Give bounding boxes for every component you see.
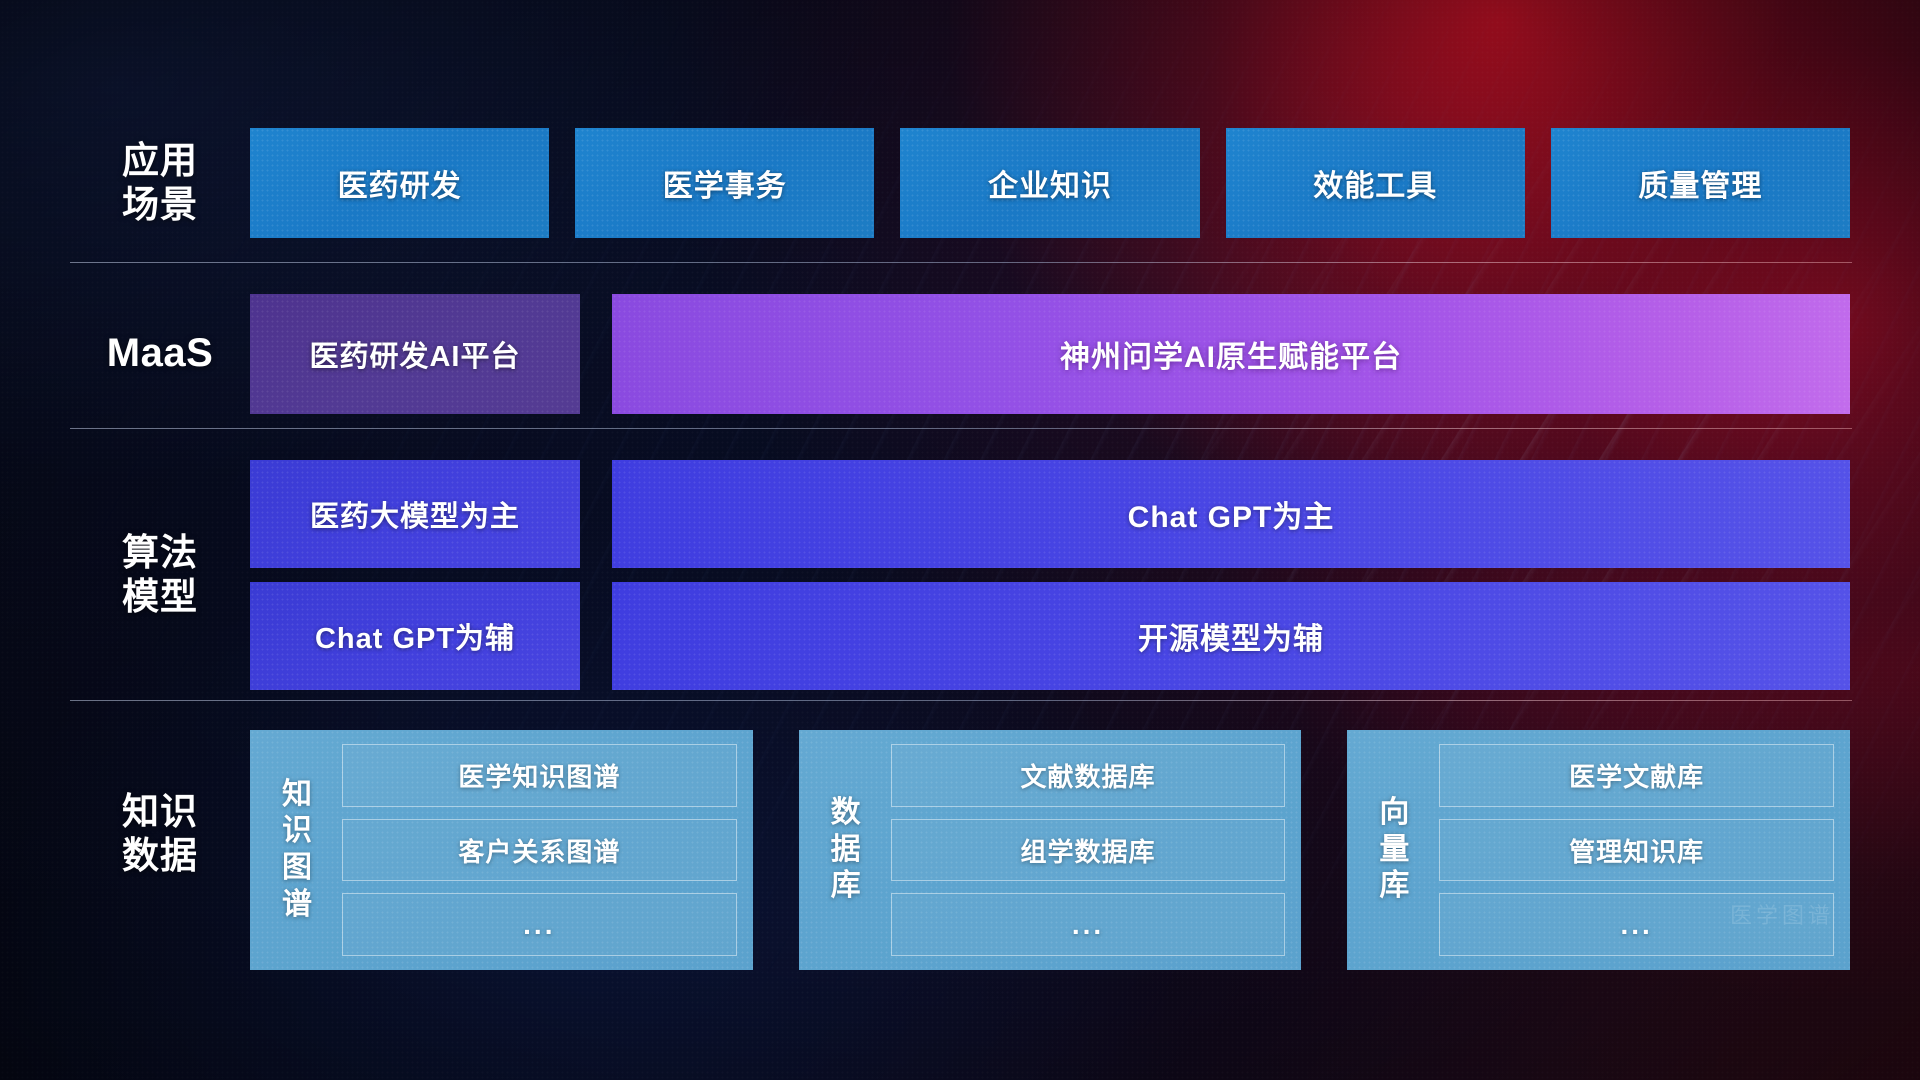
slide-canvas: 应用 场景 医药研发 医学事务 企业知识 效能工具 质量管理 MaaS 医药研发… (0, 0, 1920, 1080)
algorithm-primary-line: 医药大模型为主 Chat GPT为主 (250, 460, 1850, 568)
knowledge-item-more-vector-store[interactable]: ... (1439, 893, 1834, 956)
algo-card-pharma-llm-primary[interactable]: 医药大模型为主 (250, 460, 580, 568)
architecture-diagram: 应用 场景 医药研发 医学事务 企业知识 效能工具 质量管理 MaaS 医药研发… (0, 0, 1920, 1080)
divider-algorithm-knowledge (70, 700, 1852, 701)
row-label-line-2: 模型 (70, 575, 250, 619)
knowledge-item-omics-database[interactable]: 组学数据库 (891, 819, 1286, 882)
app-card-efficiency-tools[interactable]: 效能工具 (1226, 128, 1525, 238)
divider-applications-maas (70, 262, 1852, 263)
title-char: 图 (282, 850, 312, 887)
divider-maas-algorithm (70, 428, 1852, 429)
knowledge-item-customer-relation-graph[interactable]: 客户关系图谱 (342, 819, 737, 882)
title-char: 数 (831, 795, 861, 832)
knowledge-item-management-knowledge-store[interactable]: 管理知识库 (1439, 819, 1834, 882)
app-card-drug-rd[interactable]: 医药研发 (250, 128, 549, 238)
knowledge-item-medical-literature-store[interactable]: 医学文献库 (1439, 744, 1834, 807)
knowledge-item-literature-database[interactable]: 文献数据库 (891, 744, 1286, 807)
algorithm-cards-container: 医药大模型为主 Chat GPT为主 Chat GPT为辅 开源模型为辅 (250, 460, 1850, 690)
row-label-line-2: 场景 (70, 183, 250, 227)
knowledge-groups-container: 知 识 图 谱 医学知识图谱 客户关系图谱 ... (250, 730, 1850, 970)
application-cards: 医药研发 医学事务 企业知识 效能工具 质量管理 (250, 128, 1850, 238)
app-card-medical-affairs[interactable]: 医学事务 (575, 128, 874, 238)
title-char: 知 (282, 777, 312, 814)
application-cards-container: 医药研发 医学事务 企业知识 效能工具 质量管理 (250, 128, 1850, 238)
row-label-line-1: 算法 (70, 531, 250, 575)
knowledge-groups: 知 识 图 谱 医学知识图谱 客户关系图谱 ... (250, 730, 1850, 970)
title-char: 向 (1379, 795, 1409, 832)
algorithm-secondary-line: Chat GPT为辅 开源模型为辅 (250, 582, 1850, 690)
row-label-algorithm-models: 算法 模型 (70, 531, 250, 618)
algo-card-opensource-secondary[interactable]: 开源模型为辅 (612, 582, 1850, 690)
knowledge-items-knowledge-graph: 医学知识图谱 客户关系图谱 ... (342, 744, 737, 956)
knowledge-group-title-vector-store: 向 量 库 (1361, 744, 1427, 956)
row-label-line-1: 知识 (70, 790, 250, 834)
knowledge-item-more-knowledge-graph[interactable]: ... (342, 893, 737, 956)
knowledge-group-title-knowledge-graph: 知 识 图 谱 (264, 744, 330, 956)
title-char: 量 (1379, 832, 1409, 869)
title-char: 库 (831, 868, 861, 905)
knowledge-item-medical-knowledge-graph[interactable]: 医学知识图谱 (342, 744, 737, 807)
title-char: 识 (282, 813, 312, 850)
knowledge-items-database: 文献数据库 组学数据库 ... (891, 744, 1286, 956)
maas-row: MaaS 医药研发AI平台 神州问学AI原生赋能平台 (70, 294, 1850, 414)
knowledge-items-vector-store: 医学文献库 管理知识库 ... (1439, 744, 1834, 956)
knowledge-group-knowledge-graph: 知 识 图 谱 医学知识图谱 客户关系图谱 ... (250, 730, 753, 970)
knowledge-item-more-database[interactable]: ... (891, 893, 1286, 956)
app-card-enterprise-knowledge[interactable]: 企业知识 (900, 128, 1199, 238)
knowledge-group-vector-store: 向 量 库 医学文献库 管理知识库 ... 医学图谱 (1347, 730, 1850, 970)
knowledge-group-title-database: 数 据 库 (813, 744, 879, 956)
row-label-application-scenarios: 应用 场景 (70, 139, 250, 226)
application-scenarios-row: 应用 场景 医药研发 医学事务 企业知识 效能工具 质量管理 (70, 128, 1850, 238)
maas-card-shenzhou-wenxue-platform[interactable]: 神州问学AI原生赋能平台 (612, 294, 1850, 414)
algorithm-models-row: 算法 模型 医药大模型为主 Chat GPT为主 Chat GPT为辅 开源模型… (70, 460, 1850, 690)
row-label-line-1: 应用 (70, 139, 250, 183)
title-char: 据 (831, 832, 861, 869)
knowledge-group-database: 数 据 库 文献数据库 组学数据库 ... (799, 730, 1302, 970)
row-label-line-2: 数据 (70, 834, 250, 878)
row-label-knowledge-data: 知识 数据 (70, 790, 250, 877)
row-label-maas: MaaS (70, 330, 250, 377)
app-card-quality-management[interactable]: 质量管理 (1551, 128, 1850, 238)
title-char: 谱 (282, 887, 312, 924)
title-char: 库 (1379, 868, 1409, 905)
maas-card-drug-rd-ai-platform[interactable]: 医药研发AI平台 (250, 294, 580, 414)
maas-cards-container: 医药研发AI平台 神州问学AI原生赋能平台 (250, 294, 1850, 414)
knowledge-data-row: 知识 数据 知 识 图 谱 医学知识图谱 客户 (70, 730, 1850, 970)
algo-card-chatgpt-secondary[interactable]: Chat GPT为辅 (250, 582, 580, 690)
algo-card-chatgpt-primary[interactable]: Chat GPT为主 (612, 460, 1850, 568)
algorithm-card-stack: 医药大模型为主 Chat GPT为主 Chat GPT为辅 开源模型为辅 (250, 460, 1850, 690)
